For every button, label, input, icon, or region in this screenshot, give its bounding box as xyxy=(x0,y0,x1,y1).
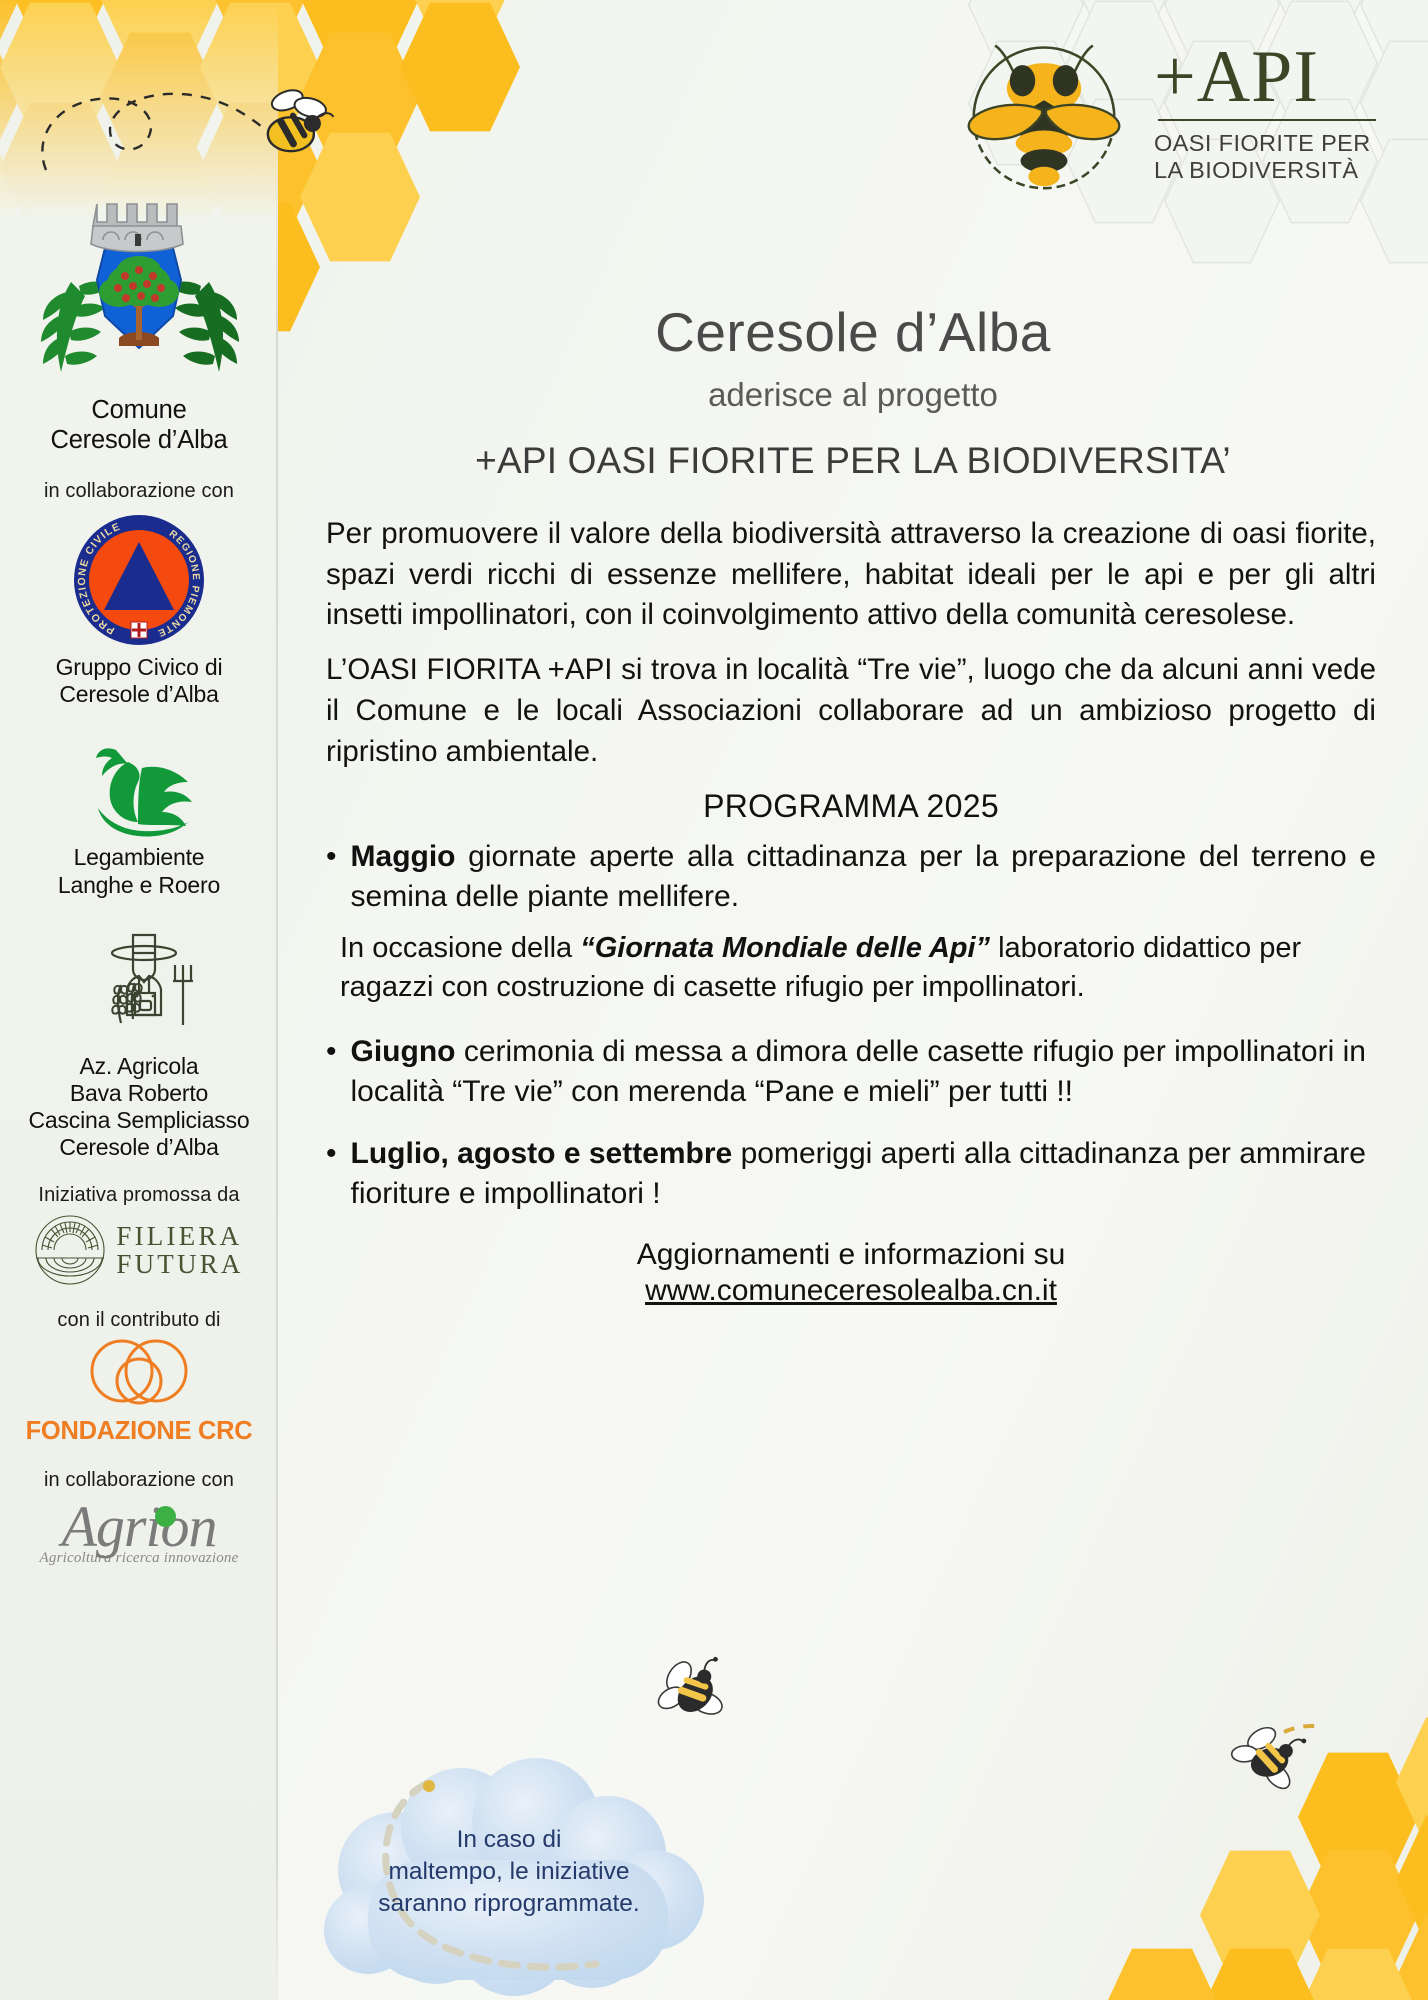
sidebar-section-filiera-futura: Iniziativa promossa da xyxy=(0,1183,278,1292)
weather-note: In caso di maltempo, le iniziative saran… xyxy=(286,1750,706,2000)
note-emphasis: “Giornata Mondiale delle Api” xyxy=(580,932,990,964)
bee-icon xyxy=(956,28,1132,196)
month-text-maggio: giornate aperte alla cittadinanza per la… xyxy=(351,840,1376,913)
api-logo: +API OASI FIORITE PER LA BIODIVERSITÀ xyxy=(956,28,1376,196)
note-prefix: In occasione della xyxy=(340,932,580,964)
azienda-name4: Ceresole d’Alba xyxy=(0,1134,278,1161)
filiera-futura-word2: FUTURA xyxy=(116,1250,243,1279)
protezione-civile-icon: PROTEZIONE CIVILE REGIONE PIEMONTE xyxy=(73,514,205,646)
weather-note-line2: maltempo, le iniziative xyxy=(344,1856,674,1888)
caption-con-contributo: con il contributo di xyxy=(0,1308,278,1333)
azienda-name1: Az. Agricola xyxy=(0,1053,278,1080)
updates-label: Aggiornamenti e informazioni su xyxy=(326,1238,1376,1272)
month-label-giugno: Giugno xyxy=(351,1035,456,1068)
bee-icon xyxy=(646,1650,732,1736)
month-label-maggio: Maggio xyxy=(351,840,456,873)
program-heading: PROGRAMMA 2025 xyxy=(326,788,1376,825)
weather-note-line3: saranno riprogrammate. xyxy=(344,1888,674,1920)
legambiente-name1: Legambiente xyxy=(0,844,278,871)
sidebar-section-protezione-civile: in collaborazione con PROTEZIONE CIVILE … xyxy=(0,479,278,708)
sidebar-section-agrion: in collaborazione con Agrion Agricoltura… xyxy=(0,1468,278,1567)
azienda-name3: Cascina Sempliciasso xyxy=(0,1107,278,1134)
protezione-civile-name2: Ceresole d’Alba xyxy=(0,681,278,708)
caption-iniziativa-promossa: Iniziativa promossa da xyxy=(0,1183,278,1208)
bullet-marker-icon: • xyxy=(326,837,337,917)
filiera-futura-word1: FILIERA xyxy=(116,1222,243,1251)
weather-note-line1: In caso di xyxy=(344,1824,674,1856)
page-title: Ceresole d’Alba xyxy=(278,300,1428,364)
agrion-wordmark: Agrion xyxy=(61,1499,216,1554)
paragraph-2: L’OASI FIORITA +API si trova in località… xyxy=(326,650,1376,772)
program-note-maggio: In occasione della “Giornata Mondiale de… xyxy=(340,929,1376,1006)
sidebar: Comune Ceresole d’Alba in collaborazione… xyxy=(0,0,278,2000)
paragraph-1: Per promuovere il valore della biodivers… xyxy=(326,514,1376,636)
api-brand-text: +API xyxy=(1154,46,1376,109)
poster-canvas: +API OASI FIORITE PER LA BIODIVERSITÀ xyxy=(0,0,1428,2000)
municipality-line2: Ceresole d’Alba xyxy=(0,426,278,456)
farmer-icon xyxy=(77,927,201,1045)
body-text: Per promuovere il valore della biodivers… xyxy=(278,514,1428,1308)
caption-collaborazione-1: in collaborazione con xyxy=(0,479,278,504)
bee-icon xyxy=(30,44,360,184)
coat-of-arms-icon xyxy=(23,196,255,396)
filiera-futura-logo: FILIERA FUTURA xyxy=(0,1208,278,1292)
footer-updates: Aggiornamenti e informazioni su www.comu… xyxy=(326,1238,1376,1308)
api-divider xyxy=(1158,119,1376,121)
sidebar-section-fondazione-crc: con il contributo di FONDAZIONE CRC xyxy=(0,1308,278,1446)
program-item-luglio: • Luglio, agosto e settembre pomeriggi a… xyxy=(326,1134,1376,1214)
fondazione-crc-text: FONDAZIONE CRC xyxy=(0,1417,278,1446)
api-tagline-line1: OASI FIORITE PER xyxy=(1154,130,1376,157)
municipality-line1: Comune xyxy=(0,396,278,426)
program-item-giugno: • Giugno cerimonia di messa a dimora del… xyxy=(326,1032,1376,1112)
bullet-marker-icon: • xyxy=(326,1134,337,1214)
protezione-civile-name1: Gruppo Civico di xyxy=(0,654,278,681)
municipality-block: Comune Ceresole d’Alba xyxy=(0,196,278,455)
sidebar-section-legambiente: Legambiente Langhe e Roero xyxy=(0,734,278,898)
bee-icon xyxy=(1228,1710,1320,1796)
month-label-luglio: Luglio, agosto e settembre xyxy=(351,1137,733,1170)
fondazione-crc-icon xyxy=(80,1333,198,1417)
main-content: Ceresole d’Alba aderisce al progetto +AP… xyxy=(278,0,1428,2000)
filiera-futura-icon xyxy=(34,1214,106,1286)
legambiente-name2: Langhe e Roero xyxy=(0,872,278,899)
azienda-name2: Bava Roberto xyxy=(0,1080,278,1107)
website-link[interactable]: www.comuneceresolealba.cn.it xyxy=(326,1274,1376,1308)
program-item-maggio: • Maggio giornate aperte alla cittadinan… xyxy=(326,837,1376,917)
bullet-marker-icon: • xyxy=(326,1032,337,1112)
api-tagline-line2: LA BIODIVERSITÀ xyxy=(1154,157,1376,184)
month-text-giugno: cerimonia di messa a dimora delle casett… xyxy=(351,1035,1366,1108)
agrion-dot-icon xyxy=(155,1506,176,1527)
project-line: +API OASI FIORITE PER LA BIODIVERSITA’ xyxy=(278,440,1428,482)
caption-collaborazione-2: in collaborazione con xyxy=(0,1468,278,1493)
page-subtitle: aderisce al progetto xyxy=(278,376,1428,414)
sidebar-section-azienda-agricola: Az. Agricola Bava Roberto Cascina Sempli… xyxy=(0,927,278,1162)
legambiente-swan-icon xyxy=(76,734,202,838)
